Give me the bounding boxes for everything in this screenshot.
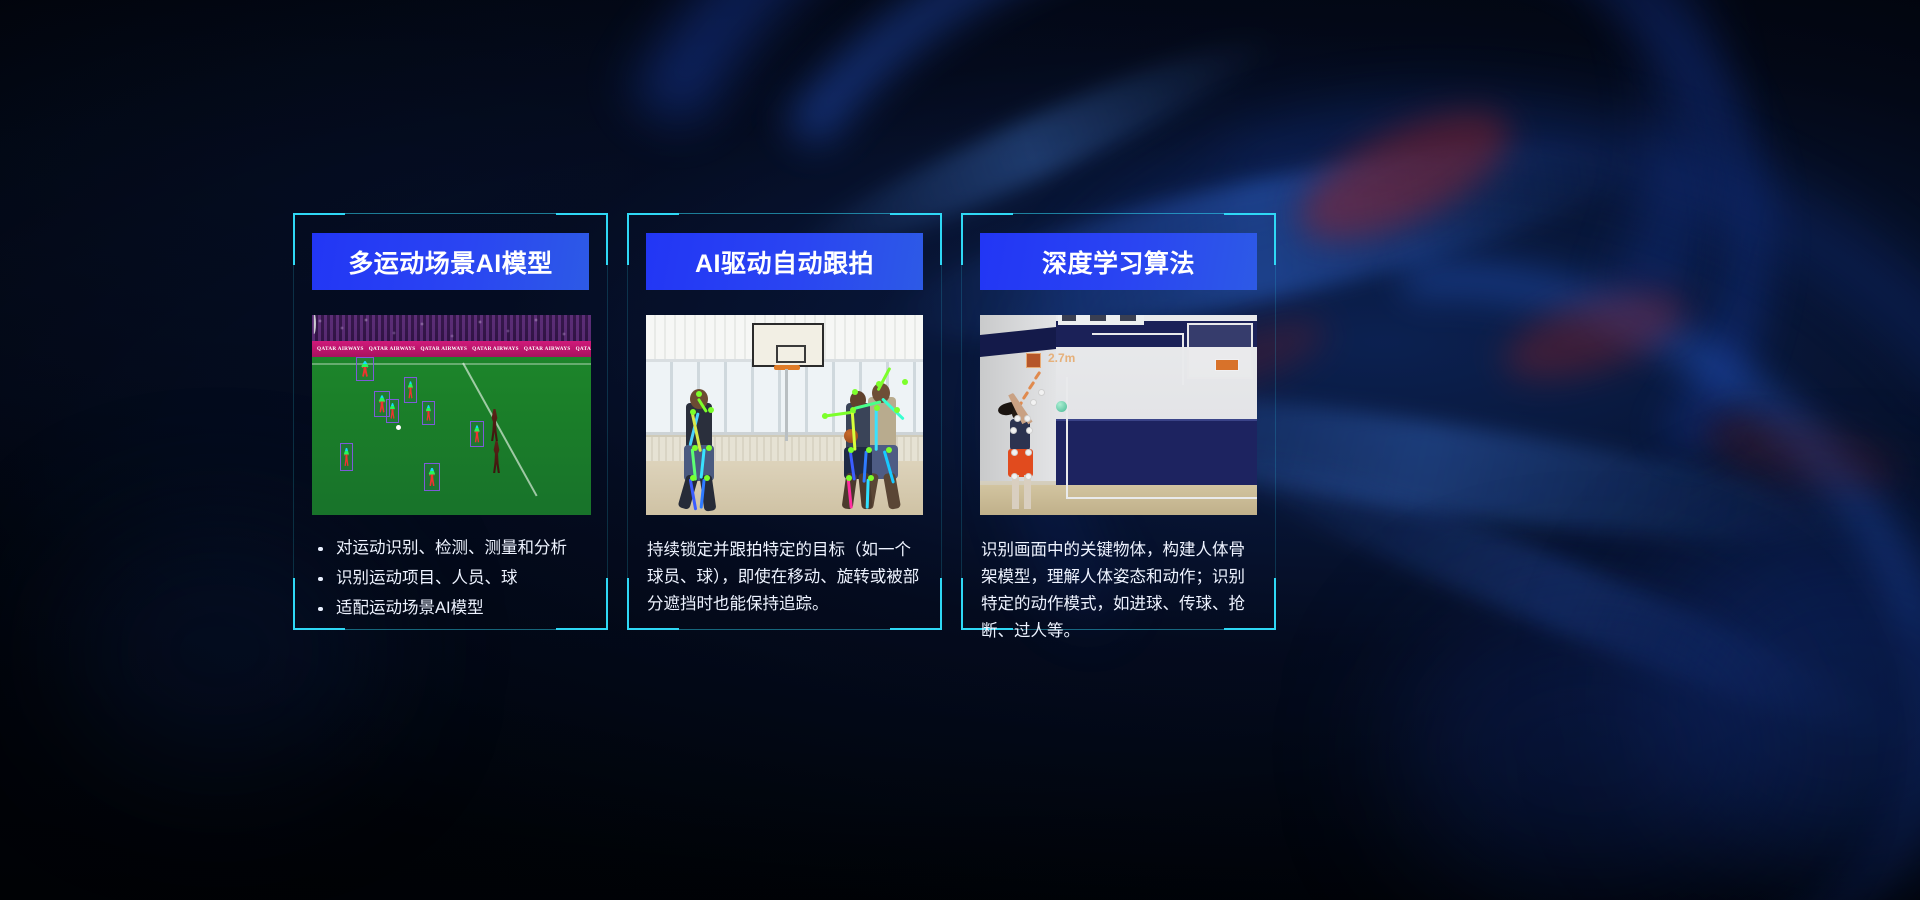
pose-keypoint xyxy=(690,475,696,481)
detection-box-5 xyxy=(422,401,435,425)
backboard-square xyxy=(776,345,806,363)
detection-box-8 xyxy=(424,463,440,491)
pose-keypoint xyxy=(876,381,882,387)
pose-keypoint xyxy=(1030,399,1037,406)
soccer-ball xyxy=(396,425,401,430)
pose-bone xyxy=(874,409,877,451)
pose-keypoint xyxy=(1026,427,1033,434)
distance-label: 2.7m xyxy=(1048,351,1075,365)
gym3-wall-padding xyxy=(1056,419,1257,485)
feature-card-multi-sport-ai-model[interactable]: 多运动场景AI模型 QATAR AIRWAYS QATAR AIRWAYS QA… xyxy=(293,213,608,630)
card-paragraph: 识别画面中的关键物体，构建人体骨架模型，理解人体姿态和动作；识别特定的动作模式，… xyxy=(981,537,1257,645)
soccer-detection-thumbnail: QATAR AIRWAYS QATAR AIRWAYS QATAR AIRWAY… xyxy=(312,315,591,515)
pose-keypoint xyxy=(1014,415,1021,422)
feature-card-deep-learning-algorithm[interactable]: 深度学习算法 2.7m xyxy=(961,213,1276,630)
advertising-board-text-3: QATAR AIRWAYS xyxy=(415,346,467,352)
feature-bullet-list: 对运动识别、检测、测量和分析 识别运动项目、人员、球 适配运动场景AI模型 xyxy=(312,537,589,620)
pose-keypoint xyxy=(692,445,698,451)
detection-box-1 xyxy=(356,357,374,381)
card-body-ai-auto-tracking: 持续锁定并跟拍特定的目标（如一个球员、球），即使在移动、旋转或被部分遮挡时也能保… xyxy=(646,537,923,618)
shooter-leg-2 xyxy=(1024,475,1031,509)
advertising-board-text-2: QATAR AIRWAYS xyxy=(364,346,416,352)
shooter-leg-1 xyxy=(1012,475,1019,509)
feature-card-row: 多运动场景AI模型 QATAR AIRWAYS QATAR AIRWAYS QA… xyxy=(293,213,1276,630)
basketball xyxy=(844,429,858,443)
card-body-multi-sport-ai-model: 对运动识别、检测、测量和分析 识别运动项目、人员、球 适配运动场景AI模型 xyxy=(312,537,589,620)
pose-keypoint xyxy=(1011,473,1018,480)
pose-keypoint xyxy=(850,407,856,413)
hoop-support-pole xyxy=(785,369,788,441)
tracking-guide-vertical-2 xyxy=(1066,377,1068,499)
pose-keypoint xyxy=(1010,427,1017,434)
advertising-board: QATAR AIRWAYS QATAR AIRWAYS QATAR AIRWAY… xyxy=(312,341,591,357)
card-title-multi-sport-ai-model: 多运动场景AI模型 xyxy=(312,233,589,290)
gym3-rim xyxy=(1215,359,1239,371)
pitch-line-horizontal xyxy=(312,363,591,365)
detection-box-6 xyxy=(470,421,484,447)
gym3-floor xyxy=(980,485,1257,515)
card-body-deep-learning-algorithm: 识别画面中的关键物体，构建人体骨架模型，理解人体姿态和动作；识别特定的动作模式，… xyxy=(980,537,1257,645)
detection-box-2 xyxy=(404,377,417,403)
pose-keypoint xyxy=(868,475,874,481)
pose-keypoint xyxy=(1011,449,1018,456)
feature-card-ai-auto-tracking[interactable]: AI驱动自动跟拍 xyxy=(627,213,942,630)
card-title-ai-auto-tracking: AI驱动自动跟拍 xyxy=(646,233,923,290)
pose-keypoint xyxy=(690,409,696,415)
list-item: 适配运动场景AI模型 xyxy=(312,597,589,620)
pose-keypoint xyxy=(902,379,908,385)
pose-keypoint xyxy=(708,407,714,413)
pose-keypoint xyxy=(696,391,702,397)
pose-keypoint xyxy=(874,405,880,411)
pose-keypoint xyxy=(846,475,852,481)
gym3-scoreboard xyxy=(1058,315,1144,325)
tracking-guide-vertical xyxy=(1182,333,1184,385)
pose-keypoint xyxy=(1038,389,1045,396)
pose-keypoint xyxy=(822,413,828,419)
advertising-board-text: QATAR AIRWAYS xyxy=(312,346,364,352)
detection-box-4 xyxy=(386,399,399,423)
ball-tracking-box xyxy=(1026,353,1041,368)
pose-keypoint xyxy=(866,447,872,453)
advertising-board-text-4: QATAR AIRWAYS xyxy=(467,346,519,352)
shot-tracking-thumbnail: 2.7m xyxy=(980,315,1257,515)
detection-box-7 xyxy=(340,443,353,471)
pose-keypoint xyxy=(886,447,892,453)
pose-keypoint xyxy=(894,407,900,413)
pose-keypoint xyxy=(1025,473,1032,480)
list-item: 对运动识别、检测、测量和分析 xyxy=(312,537,589,560)
card-paragraph: 持续锁定并跟拍特定的目标（如一个球员、球），即使在移动、旋转或被部分遮挡时也能保… xyxy=(647,537,923,618)
list-item: 识别运动项目、人员、球 xyxy=(312,567,589,590)
pose-keypoint xyxy=(706,445,712,451)
shooter-torso xyxy=(1010,419,1030,451)
basketball-backboard xyxy=(752,323,824,367)
tracked-object-marker xyxy=(1056,401,1067,412)
pose-keypoint xyxy=(1025,449,1032,456)
pose-keypoint xyxy=(1024,415,1031,422)
basketball-pose-thumbnail xyxy=(646,315,923,515)
tracking-guide-floor xyxy=(1066,497,1257,499)
card-title-deep-learning-algorithm: 深度学习算法 xyxy=(980,233,1257,290)
tracking-guide-horizontal xyxy=(1092,333,1184,335)
pose-keypoint xyxy=(852,389,858,395)
advertising-board-text-5: QATAR AIRWAYS xyxy=(519,346,571,352)
pose-keypoint xyxy=(848,447,854,453)
pose-keypoint xyxy=(704,475,710,481)
advertising-board-text-6: QATAR AIRWAYS xyxy=(571,346,591,352)
